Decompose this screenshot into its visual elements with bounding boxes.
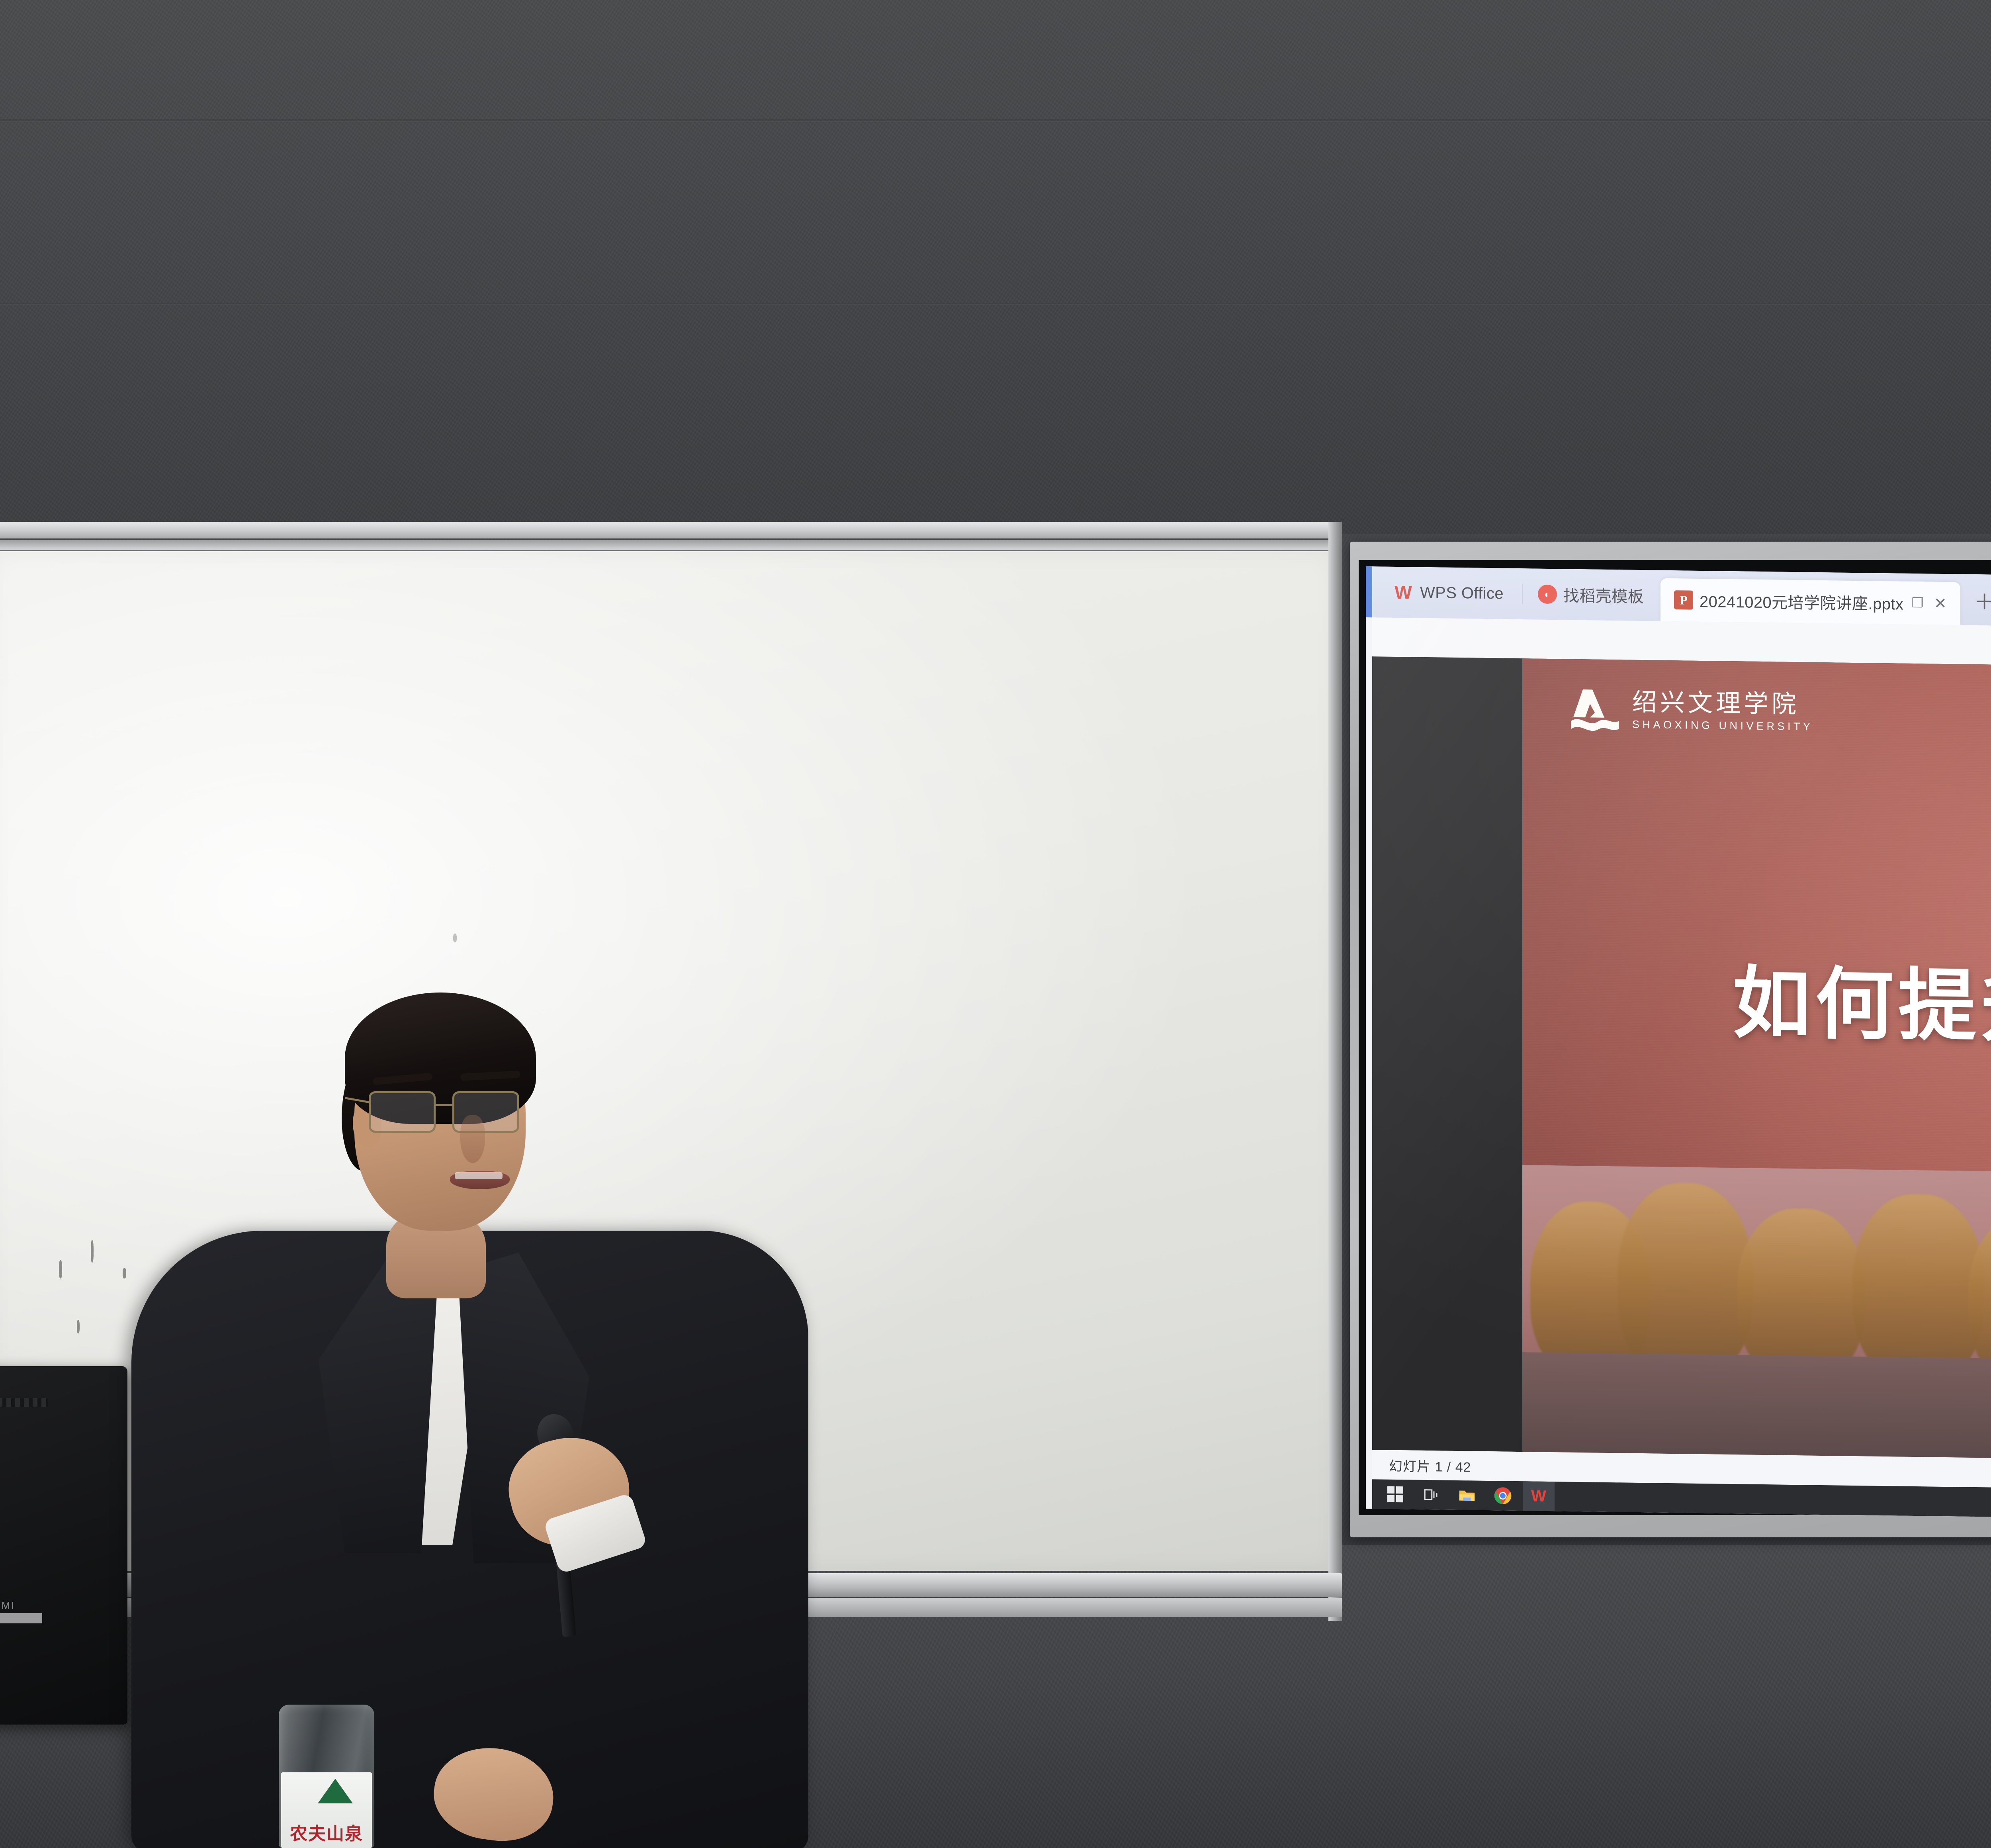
photo-tree bbox=[1618, 1182, 1753, 1379]
window-accent-strip bbox=[1366, 566, 1372, 617]
tab-label-templates: 找稻壳模板 bbox=[1563, 583, 1644, 607]
presenter-teeth bbox=[455, 1172, 503, 1179]
wps-icon[interactable]: W bbox=[1523, 1481, 1555, 1511]
tab-divider bbox=[1522, 583, 1523, 604]
bottle-label: 农夫山泉 bbox=[281, 1772, 372, 1848]
wall-upper-panel bbox=[0, 0, 1991, 534]
slide-1[interactable]: 绍兴文理学院 SHAOXING UNIVERSITY 如何提升科研能力 bbox=[1522, 658, 1991, 1466]
university-name-cn: 绍兴文理学院 bbox=[1632, 689, 1799, 718]
wall-seam bbox=[0, 119, 1991, 122]
file-explorer-icon[interactable] bbox=[1451, 1480, 1483, 1510]
bottle-brand-name: 农夫山泉 bbox=[281, 1819, 372, 1845]
restore-window-icon[interactable]: ❐ bbox=[1911, 595, 1923, 611]
windows-start-icon[interactable] bbox=[1379, 1479, 1411, 1509]
interactive-display[interactable]: W WPS Office ◐ 找稻壳模板 P 20241020元培学院讲座.pp… bbox=[1350, 542, 1991, 1537]
template-icon: ◐ bbox=[1538, 585, 1557, 604]
campus-photo bbox=[1522, 1165, 1991, 1466]
slide-canvas-area[interactable]: 绍兴文理学院 SHAOXING UNIVERSITY 如何提升科研能力 bbox=[1372, 656, 1991, 1468]
chrome-icon[interactable] bbox=[1487, 1481, 1519, 1511]
tab-wps-office-home[interactable]: W WPS Office bbox=[1379, 574, 1517, 612]
university-name-en: SHAOXING UNIVERSITY bbox=[1632, 718, 1813, 733]
whiteboard-top-rail-shadow bbox=[0, 540, 1342, 550]
university-logo-text: 绍兴文理学院 SHAOXING UNIVERSITY bbox=[1632, 690, 1813, 733]
eyeglasses-icon bbox=[369, 1087, 540, 1139]
wps-icon: W bbox=[1393, 582, 1414, 603]
photo-water bbox=[1522, 1352, 1991, 1466]
slide-counter: 幻灯片 1 / 42 bbox=[1389, 1455, 1471, 1476]
taskbar-apps[interactable]: W bbox=[1379, 1479, 1555, 1511]
tab-label-document: 20241020元培学院讲座.pptx bbox=[1700, 589, 1903, 615]
monitor-sticker bbox=[0, 1613, 42, 1623]
monitor-port-label: HDMI bbox=[0, 1599, 15, 1612]
mountain-logo-icon bbox=[318, 1779, 353, 1803]
slide-title: 如何提升科研能力 bbox=[1522, 937, 1991, 1064]
university-logo: 绍兴文理学院 SHAOXING UNIVERSITY bbox=[1569, 686, 1813, 736]
plus-icon[interactable]: ＋ bbox=[1974, 584, 1991, 616]
whiteboard-top-rail bbox=[0, 522, 1342, 538]
desk-monitor: HDMI bbox=[0, 1366, 127, 1725]
screen[interactable]: W WPS Office ◐ 找稻壳模板 P 20241020元培学院讲座.pp… bbox=[1366, 566, 1991, 1527]
tab-document[interactable]: P 20241020元培学院讲座.pptx ❐ ✕ bbox=[1660, 578, 1960, 625]
task-view-icon[interactable] bbox=[1415, 1480, 1447, 1510]
photo-tree bbox=[1737, 1208, 1865, 1380]
whiteboard-right-edge bbox=[1328, 522, 1342, 1621]
wall-seam bbox=[0, 303, 1991, 305]
powerpoint-file-icon: P bbox=[1674, 590, 1693, 610]
close-icon[interactable]: ✕ bbox=[1934, 594, 1947, 612]
presenter-nose bbox=[460, 1115, 485, 1163]
photo-tree bbox=[1853, 1193, 1984, 1382]
monitor-vent bbox=[0, 1398, 48, 1407]
tab-find-templates[interactable]: ◐ 找稻壳模板 bbox=[1524, 576, 1657, 614]
tab-label-wps-office: WPS Office bbox=[1420, 583, 1504, 603]
water-bottle: 农夫山泉 bbox=[279, 1705, 374, 1848]
mountain-wave-logo-icon bbox=[1569, 686, 1622, 734]
presenter bbox=[131, 956, 840, 1848]
